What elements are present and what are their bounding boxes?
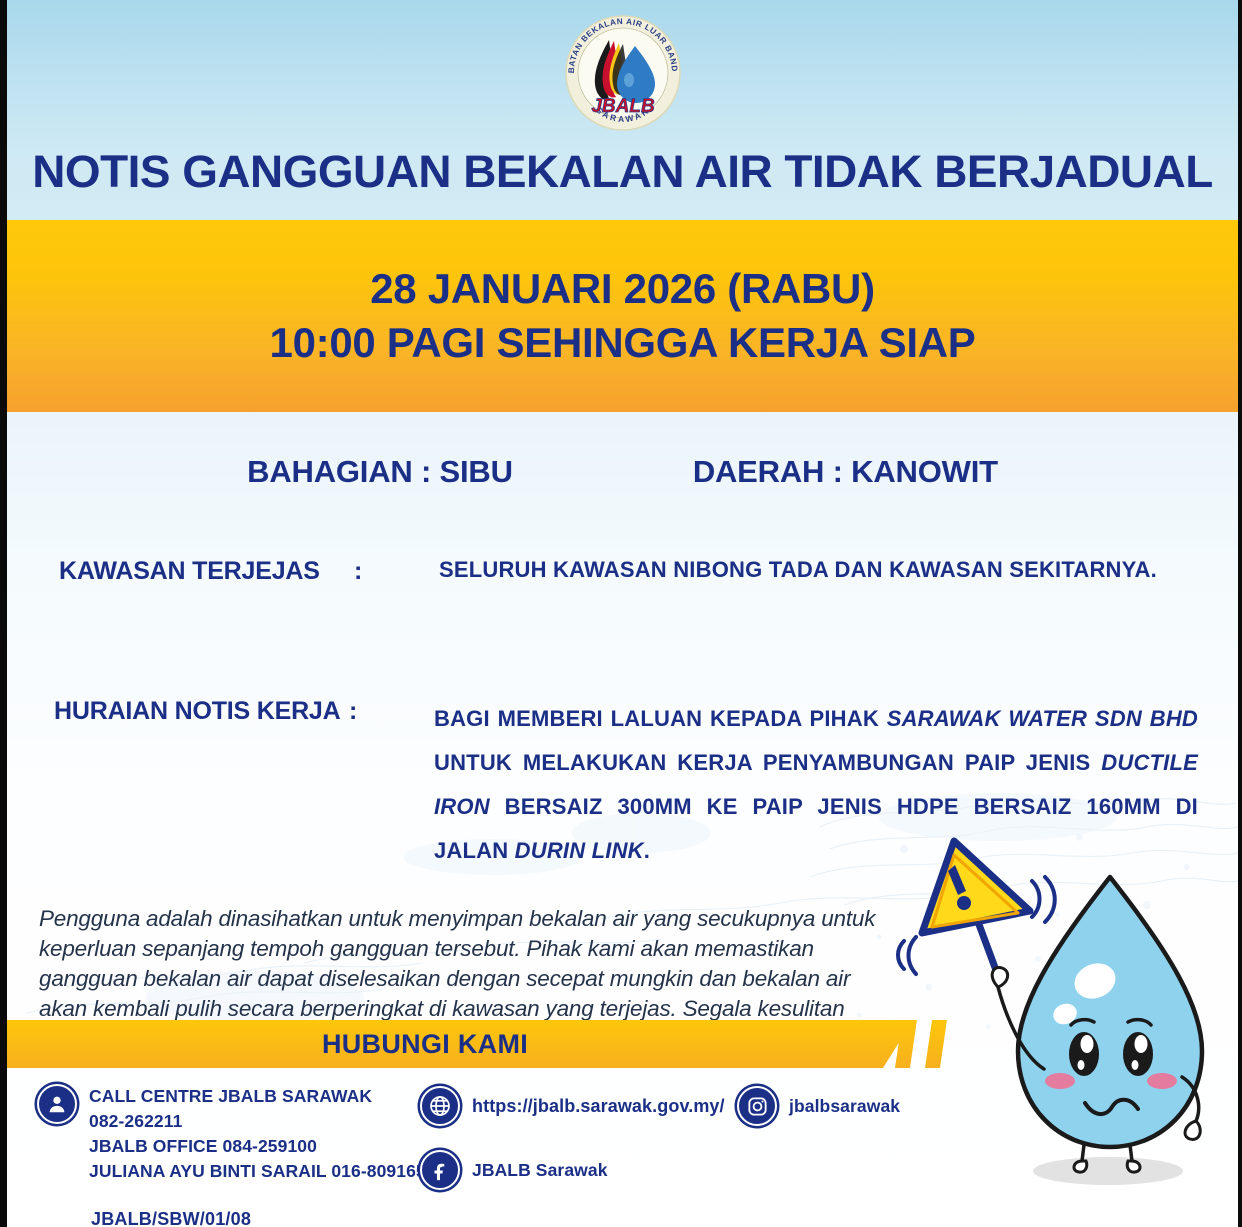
- contact-call-centre[interactable]: CALL CENTRE JBALB SARAWAK 082-262211 JBA…: [37, 1084, 436, 1183]
- contact-banner-title: HUBUNGI KAMI: [7, 1020, 913, 1068]
- work-description-label: HURAIAN NOTIS KERJA: [54, 697, 349, 726]
- notice-date: 28 JANUARI 2026 (RABU): [370, 265, 875, 313]
- officer-contact: JULIANA AYU BINTI SARAIL 016-8091659: [89, 1159, 436, 1184]
- jbalb-logo: JABATAN BEKALAN AIR LUAR BANDAR SARAWAK …: [559, 14, 687, 132]
- instagram-icon: [737, 1086, 777, 1126]
- work-desc-seg1: BAGI MEMBERI LALUAN KEPADA PIHAK: [434, 706, 887, 731]
- globe-icon: [420, 1086, 460, 1126]
- facebook-handle[interactable]: JBALB Sarawak: [472, 1150, 608, 1181]
- banner-slash-2: [925, 1020, 947, 1068]
- region-row: BAHAGIAN : SIBU DAERAH : KANOWIT: [7, 454, 1238, 490]
- contact-website[interactable]: https://jbalb.sarawak.gov.my/: [420, 1086, 725, 1126]
- water-droplet-mascot: [882, 829, 1238, 1199]
- work-desc-seg2: UNTUK MELAKUKAN KERJA PENYAMBUNGAN PAIP …: [434, 750, 1101, 775]
- work-desc-italic3: DURIN LINK: [515, 838, 644, 863]
- reference-code: JBALB/SBW/01/08: [91, 1209, 251, 1227]
- page-title: NOTIS GANGGUAN BEKALAN AIR TIDAK BERJADU…: [0, 146, 1242, 198]
- affected-area-label: KAWASAN TERJEJAS: [59, 557, 354, 586]
- work-desc-italic1: SARAWAK WATER SDN BHD: [887, 706, 1198, 731]
- district-label: DAERAH : KANOWIT: [693, 454, 998, 490]
- call-centre-lines: CALL CENTRE JBALB SARAWAK 082-262211 JBA…: [89, 1084, 436, 1183]
- jbalb-office-phone: JBALB OFFICE 084-259100: [89, 1134, 436, 1159]
- poster-header: JABATAN BEKALAN AIR LUAR BANDAR SARAWAK …: [7, 0, 1238, 220]
- division-label: BAHAGIAN : SIBU: [247, 454, 513, 490]
- svg-text:JBALB: JBALB: [591, 96, 655, 117]
- jbalb-logo-icon: JABATAN BEKALAN AIR LUAR BANDAR SARAWAK …: [559, 14, 687, 132]
- work-description-value: BAGI MEMBERI LALUAN KEPADA PIHAK SARAWAK…: [434, 697, 1198, 873]
- call-centre-title: CALL CENTRE JBALB SARAWAK: [89, 1084, 436, 1109]
- work-description-row: HURAIAN NOTIS KERJA : BAGI MEMBERI LALUA…: [54, 697, 1198, 873]
- work-description-colon: :: [349, 697, 434, 726]
- website-url[interactable]: https://jbalb.sarawak.gov.my/: [472, 1086, 725, 1117]
- work-desc-seg4: .: [644, 838, 650, 863]
- contact-instagram[interactable]: jbalbsarawak: [737, 1086, 900, 1126]
- contact-facebook[interactable]: JBALB Sarawak: [420, 1150, 608, 1190]
- affected-area-colon: :: [354, 557, 439, 586]
- facebook-icon: [420, 1150, 460, 1190]
- person-icon: [37, 1084, 77, 1124]
- instagram-handle[interactable]: jbalbsarawak: [789, 1086, 900, 1117]
- notice-time: 10:00 PAGI SEHINGGA KERJA SIAP: [270, 319, 976, 367]
- mascot-illustration: [882, 829, 1238, 1199]
- date-banner: 28 JANUARI 2026 (RABU) 10:00 PAGI SEHING…: [7, 220, 1238, 412]
- poster-body: BAHAGIAN : SIBU DAERAH : KANOWIT KAWASAN…: [7, 412, 1238, 1227]
- affected-area-value: SELURUH KAWASAN NIBONG TADA DAN KAWASAN …: [439, 557, 1198, 583]
- call-centre-phone: 082-262211: [89, 1109, 436, 1134]
- contact-banner: HUBUNGI KAMI: [7, 1020, 913, 1068]
- affected-area-row: KAWASAN TERJEJAS : SELURUH KAWASAN NIBON…: [59, 557, 1198, 586]
- notice-poster: JABATAN BEKALAN AIR LUAR BANDAR SARAWAK …: [0, 0, 1242, 1227]
